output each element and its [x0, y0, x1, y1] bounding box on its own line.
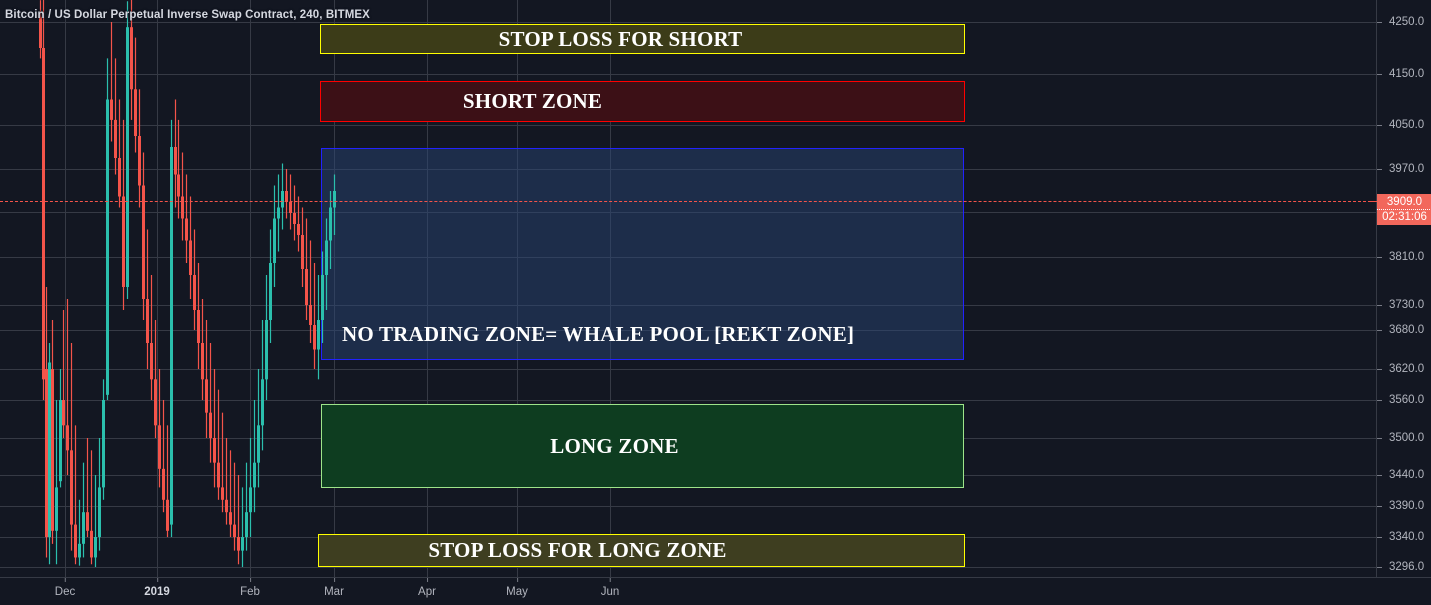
candle-body	[189, 241, 192, 276]
candle-body	[94, 537, 97, 557]
candle-body	[273, 219, 276, 264]
candle-body	[265, 320, 268, 379]
price-axis-tick: 3500.0	[1377, 431, 1424, 445]
price-axis-tick: 4150.0	[1377, 67, 1424, 81]
price-axis[interactable]: 3909.0 02:31:06 4250.04150.04050.03970.0…	[1376, 0, 1431, 577]
candle-body	[126, 27, 129, 287]
candle-body	[201, 343, 204, 379]
candle-body	[229, 512, 232, 524]
candle-body	[86, 512, 89, 531]
candle-body	[48, 363, 51, 538]
candlestick-series	[0, 0, 1376, 577]
candle-body	[55, 487, 58, 530]
candle-body	[309, 305, 312, 325]
price-axis-tick: 3970.0	[1377, 162, 1424, 176]
candle-body	[138, 136, 141, 186]
candle-body	[59, 400, 62, 481]
current-price-label: 3909.0	[1377, 194, 1431, 210]
candle-body	[39, 17, 42, 48]
price-axis-tick: 3620.0	[1377, 362, 1424, 376]
candle-body	[110, 100, 113, 120]
candle-body	[193, 275, 196, 310]
candle-body	[325, 241, 328, 276]
chart-plot-area[interactable]: STOP LOSS FOR SHORT SHORT ZONE NO TRADIN…	[0, 0, 1376, 577]
candle-body	[253, 463, 256, 488]
candle-body	[158, 425, 161, 469]
time-axis-tick: Mar	[324, 586, 344, 598]
candle-body	[277, 208, 280, 219]
price-axis-tick: 4050.0	[1377, 118, 1424, 132]
candle-body	[174, 147, 177, 175]
candle-body	[257, 425, 260, 462]
candle-body	[98, 487, 101, 537]
candle-body	[82, 512, 85, 544]
price-axis-tick: 3390.0	[1377, 499, 1424, 513]
candle-body	[297, 224, 300, 235]
candle-body	[321, 275, 324, 320]
candle-body	[281, 191, 284, 208]
candle-body	[102, 400, 105, 487]
candle-body	[42, 48, 45, 379]
candle-body	[237, 537, 240, 551]
candle-body	[293, 213, 296, 224]
candle-body	[51, 369, 54, 531]
candle-body	[329, 208, 332, 241]
candle-body	[305, 269, 308, 305]
time-axis-tick: 2019	[144, 586, 170, 598]
candle-body	[289, 202, 292, 213]
time-axis-tick: Apr	[418, 586, 436, 598]
candle-body	[130, 27, 133, 89]
candle-body	[170, 147, 173, 525]
candle-body	[221, 487, 224, 499]
candle-body	[317, 320, 320, 350]
candle-body	[142, 186, 145, 300]
candle-body	[301, 235, 304, 269]
candle-body	[74, 525, 77, 558]
price-axis-tick: 3340.0	[1377, 530, 1424, 544]
candle-body	[261, 379, 264, 425]
candle-body	[197, 310, 200, 343]
candle-body	[333, 191, 336, 208]
price-axis-tick: 3560.0	[1377, 393, 1424, 407]
candle-body	[45, 369, 48, 537]
candle-body	[177, 175, 180, 197]
candle-body	[162, 469, 165, 500]
candle-body	[78, 544, 81, 558]
candle-body	[114, 120, 117, 158]
candle-body	[166, 500, 169, 531]
candle-body	[241, 537, 244, 551]
candle-body	[106, 100, 109, 395]
candle-body	[245, 512, 248, 537]
tradingview-chart: STOP LOSS FOR SHORT SHORT ZONE NO TRADIN…	[0, 0, 1431, 604]
time-axis-tick: May	[506, 586, 528, 598]
price-axis-tick: 3440.0	[1377, 468, 1424, 482]
candle-body	[146, 299, 149, 343]
candle-body	[134, 89, 137, 136]
time-axis[interactable]: Dec2019FebMarAprMayJun	[0, 577, 1431, 605]
candle-body	[154, 379, 157, 425]
candle-body	[118, 158, 121, 197]
candle-body	[269, 263, 272, 320]
price-axis-tick: 4250.0	[1377, 15, 1424, 29]
candle-body	[249, 487, 252, 512]
chart-title: Bitcoin / US Dollar Perpetual Inverse Sw…	[5, 9, 370, 21]
price-axis-tick: 3296.0	[1377, 560, 1424, 574]
candle-body	[213, 438, 216, 463]
candle-body	[90, 531, 93, 558]
candle-body	[66, 425, 69, 450]
candle-body	[70, 450, 73, 524]
bar-countdown-label: 02:31:06	[1377, 210, 1431, 225]
candle-body	[233, 525, 236, 537]
candle-body	[185, 219, 188, 241]
candle-body	[122, 197, 125, 288]
candle-body	[150, 343, 153, 379]
time-axis-tick: Dec	[55, 586, 75, 598]
time-axis-tick: Jun	[601, 586, 620, 598]
candle-body	[225, 500, 228, 512]
price-axis-tick: 3730.0	[1377, 298, 1424, 312]
candle-body	[181, 197, 184, 219]
candle-body	[209, 413, 212, 438]
candle-body	[217, 463, 220, 488]
current-price-line	[0, 201, 1376, 202]
candle-body	[62, 400, 65, 425]
candle-body	[313, 325, 316, 350]
price-axis-tick: 3810.0	[1377, 250, 1424, 264]
time-axis-tick: Feb	[240, 586, 260, 598]
candle-body	[205, 379, 208, 412]
price-axis-tick: 3680.0	[1377, 323, 1424, 337]
